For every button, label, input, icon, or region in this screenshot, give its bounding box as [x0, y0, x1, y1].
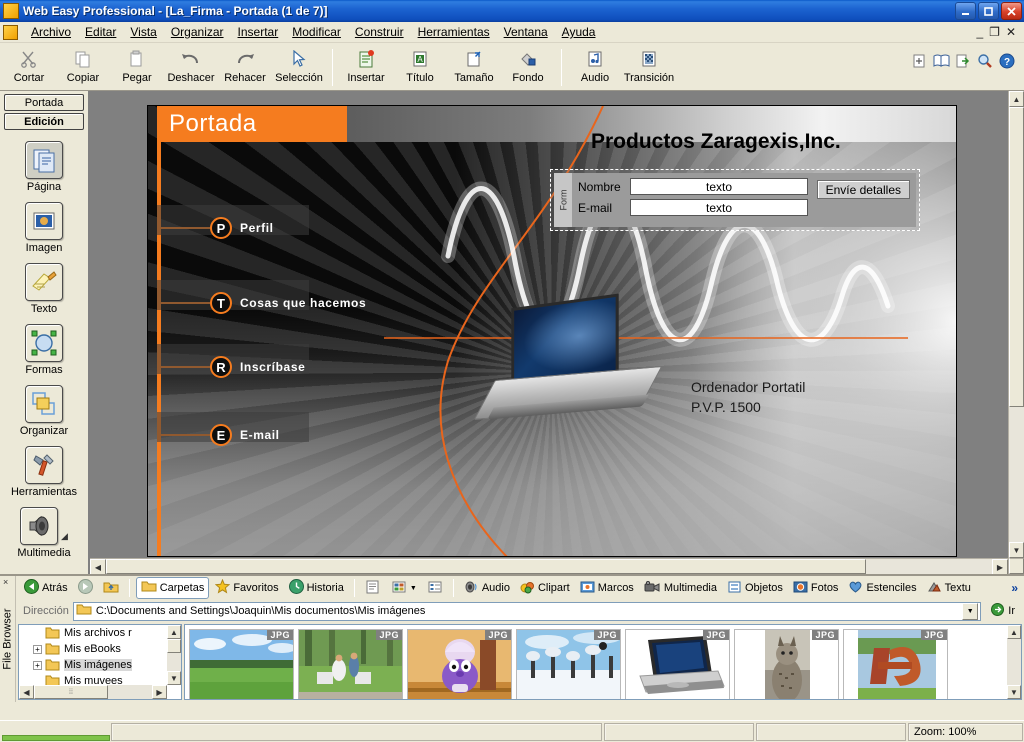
thumbnail-image-lynx — [735, 630, 838, 700]
nav-item-perfil[interactable]: P Perfil — [157, 217, 274, 239]
scroll-corner — [1009, 558, 1024, 574]
sidebar-item-imagen[interactable]: Imagen — [1, 202, 87, 254]
thumbnail-format-tag: JPG — [376, 630, 402, 640]
paste-label: Pegar — [122, 72, 151, 84]
status-bar: Zoom: 100% — [0, 720, 1024, 742]
add-page-icon[interactable] — [910, 52, 928, 70]
document-icon — [3, 25, 18, 40]
product-info: Ordenador Portatil P.V.P. 1500 — [691, 377, 805, 418]
thumbnail-item[interactable]: JPG — [189, 629, 294, 700]
audio-button[interactable]: Audio — [568, 45, 622, 90]
file-browser-side-text: File Browser — [2, 608, 14, 669]
go-label: Ir — [1008, 605, 1015, 617]
thumbnail-format-tag: JPG — [594, 630, 620, 640]
preview-magnifier-icon[interactable] — [976, 52, 994, 70]
nav-chip — [157, 205, 309, 235]
tree-expander[interactable]: + — [33, 661, 42, 670]
frames-icon — [580, 580, 595, 597]
nav-bullet-e: E — [210, 424, 232, 446]
title-icon: A — [411, 48, 429, 70]
sidebar-item-herramientas[interactable]: Herramientas — [1, 446, 87, 498]
objects-icon — [727, 580, 742, 597]
mdi-close-button[interactable]: ✕ — [1006, 26, 1016, 38]
page-header-band: Portada — [157, 106, 347, 142]
mdi-minimize-button[interactable]: _ — [976, 26, 983, 38]
audio-icon — [586, 48, 604, 70]
details-button[interactable] — [423, 578, 447, 599]
gallery-audio-label: Audio — [482, 582, 510, 594]
mdi-window-controls: _ ❐ ✕ — [976, 26, 1024, 38]
page-header-label: Portada — [169, 110, 257, 138]
file-browser-toolbar: Atrás Carpetas — [16, 576, 1024, 600]
maximize-button[interactable] — [978, 2, 999, 20]
minimize-button[interactable] — [955, 2, 976, 20]
submit-button-label: Envíe detalles — [826, 183, 901, 197]
nav-item-email[interactable]: E E-mail — [157, 424, 280, 446]
thumbnail-format-tag: JPG — [812, 630, 838, 640]
textures-icon — [927, 580, 942, 597]
undo-button[interactable]: Deshacer — [164, 45, 218, 90]
nav-chip — [157, 412, 309, 442]
address-label: Dirección — [19, 605, 69, 617]
multimedia-icon — [644, 581, 661, 596]
gallery-clipart-button[interactable]: Clipart — [516, 578, 574, 599]
thumbs-vertical-track[interactable] — [1007, 639, 1021, 685]
thumbnail-image-sculpture — [844, 630, 947, 700]
thumbnail-image-snow-trees — [517, 630, 620, 700]
horizontal-scroll-track[interactable] — [866, 559, 992, 574]
thumbnail-format-tag: JPG — [485, 630, 511, 640]
selection-button[interactable]: Selección — [272, 45, 326, 90]
insert-button[interactable]: Insertar — [339, 45, 393, 90]
history-button[interactable]: Historia — [285, 577, 348, 599]
form-label-email: E-mail — [578, 201, 630, 215]
gallery-estenciles-label: Estenciles — [866, 582, 916, 594]
scroll-up-button[interactable]: ▲ — [1009, 91, 1024, 107]
canvas-area[interactable]: Portada Productos Zaragexis,Inc. P Perfi… — [90, 91, 1024, 574]
zoom-indicator[interactable]: Zoom: 100% — [908, 723, 1023, 741]
form-input-nombre[interactable]: texto — [630, 178, 808, 195]
address-value: C:\Documents and Settings\Joaquin\Mis do… — [96, 605, 426, 617]
gallery-marcos-button[interactable]: Marcos — [576, 578, 638, 599]
sidebar-item-multimedia-label: Multimedia — [17, 547, 70, 559]
gallery-estenciles-button[interactable]: Estenciles — [844, 578, 920, 599]
progress-indicator — [2, 735, 110, 741]
photos-icon — [793, 580, 808, 597]
gallery-fotos-button[interactable]: Fotos — [789, 578, 843, 599]
nav-bullet-p: P — [210, 217, 232, 239]
scroll-down-button[interactable]: ▼ — [1009, 542, 1024, 558]
sidebar-item-formas-label: Formas — [25, 364, 62, 376]
sidebar-item-imagen-label: Imagen — [26, 242, 63, 254]
toolbar-separator-fb3 — [453, 579, 454, 597]
nav-item-email-label: E-mail — [240, 428, 280, 442]
menu-bar: Archivo Editar Vista Organizar Insertar … — [0, 22, 1024, 43]
tree-horizontal-thumb[interactable]: ⁞⁞ — [34, 685, 108, 699]
file-browser-body: Mis archivos r + Mis eBooks + Mis imágen… — [16, 622, 1024, 702]
tree-vertical-thumb[interactable] — [167, 639, 181, 653]
scroll-right-button[interactable]: ▶ — [992, 559, 1008, 574]
views-dropdown-icon[interactable]: ▼ — [410, 585, 417, 592]
background-label: Fondo — [512, 72, 543, 84]
tree-item-label: Mis imágenes — [64, 659, 132, 671]
thumbnail-image-meadow — [190, 630, 293, 700]
tree-item-mis-archivos[interactable]: Mis archivos r — [19, 625, 181, 641]
text-pencil-icon — [25, 263, 63, 301]
mdi-restore-button[interactable]: ❐ — [989, 26, 1000, 38]
transition-icon — [640, 48, 658, 70]
toolbar-separator-fb2 — [354, 579, 355, 597]
views-icon — [391, 580, 407, 597]
tree-horizontal-scrollbar[interactable]: ◀ ⁞⁞ ▶ — [19, 685, 167, 699]
background-button[interactable]: Fondo — [501, 45, 555, 90]
cut-button[interactable]: Cortar — [2, 45, 56, 90]
tab-portada-label: Portada — [25, 97, 64, 109]
shapes-icon — [25, 324, 63, 362]
thumbnail-image-park-couple — [299, 630, 402, 700]
gallery-multimedia-label: Multimedia — [664, 582, 717, 594]
horizontal-scroll-thumb[interactable] — [106, 559, 866, 574]
history-icon — [289, 579, 304, 597]
clipart-icon — [520, 580, 535, 597]
thumbnail-format-tag: JPG — [921, 630, 947, 640]
status-message — [111, 723, 602, 741]
zoom-label: Zoom: 100% — [914, 726, 976, 738]
size-button[interactable]: Tamaño — [447, 45, 501, 90]
thumbnail-item[interactable]: JPG — [298, 629, 403, 700]
status-extra-1 — [604, 723, 754, 741]
folder-icon — [45, 659, 60, 671]
nav-letter: R — [216, 360, 225, 375]
sidebar-item-texto-label: Texto — [31, 303, 57, 315]
properties-button[interactable] — [361, 578, 385, 599]
help-icon[interactable]: ? — [998, 52, 1016, 70]
toolbar-separator-2 — [561, 49, 562, 86]
transition-button[interactable]: Transición — [622, 45, 676, 90]
forward-icon — [78, 579, 93, 597]
tree-scroll-up-button[interactable]: ▲ — [167, 625, 181, 639]
application-window: Web Easy Professional - [La_Firma - Port… — [0, 0, 1024, 742]
redo-button[interactable]: Rehacer — [218, 45, 272, 90]
main-area: Portada Edición Página Imagen — [0, 91, 1024, 574]
page-icon — [25, 141, 63, 179]
up-folder-button[interactable] — [99, 578, 123, 599]
menu-construir[interactable]: Construir — [348, 23, 411, 41]
thumbnail-image-smurf — [408, 630, 511, 700]
app-icon — [3, 3, 19, 19]
vertical-scroll-track[interactable] — [1009, 407, 1024, 542]
sidebar-item-organizar[interactable]: Organizar — [1, 385, 87, 437]
menu-ventana[interactable]: Ventana — [497, 23, 555, 41]
details-icon — [427, 580, 443, 597]
tab-edicion[interactable]: Edición — [4, 113, 84, 130]
cut-label: Cortar — [14, 72, 45, 84]
form-label-nombre: Nombre — [578, 180, 630, 194]
copy-icon — [74, 48, 92, 70]
gallery-texturas-label: Textu — [945, 582, 971, 594]
undo-icon — [181, 48, 201, 70]
thumbnail-item[interactable]: JPG — [625, 629, 730, 700]
gallery-clipart-label: Clipart — [538, 582, 570, 594]
menu-vista[interactable]: Vista — [123, 23, 163, 41]
thumbnail-item[interactable]: JPG — [734, 629, 839, 700]
menu-archivo[interactable]: Archivo — [24, 23, 78, 41]
thumbnail-item[interactable]: JPG — [407, 629, 512, 700]
tree-item-label: Mis archivos r — [64, 627, 132, 639]
nav-item-perfil-label: Perfil — [240, 221, 274, 235]
back-button[interactable]: Atrás — [20, 577, 72, 599]
sidebar-item-texto[interactable]: Texto — [1, 263, 87, 315]
left-tool-panel: Portada Edición Página Imagen — [0, 91, 90, 574]
sidebar-item-organizar-label: Organizar — [20, 425, 68, 437]
window-title: Web Easy Professional - [La_Firma - Port… — [23, 4, 955, 18]
address-dropdown-icon[interactable]: ▼ — [962, 603, 978, 620]
form-tab: Form — [554, 173, 572, 227]
tree-scroll-right-button[interactable]: ▶ — [152, 685, 167, 699]
window-controls — [955, 2, 1022, 20]
copy-button[interactable]: Copiar — [56, 45, 110, 90]
address-input[interactable]: C:\Documents and Settings\Joaquin\Mis do… — [73, 602, 981, 621]
size-label: Tamaño — [454, 72, 493, 84]
toolbar-overflow-button[interactable]: » — [1011, 581, 1024, 595]
tree-expander[interactable]: + — [33, 645, 42, 654]
canvas-vertical-scrollbar[interactable]: ▲ ▼ — [1008, 91, 1024, 574]
scissors-icon — [20, 48, 38, 70]
tree-horizontal-track[interactable] — [108, 685, 152, 699]
thumbnail-format-tag: JPG — [703, 630, 729, 640]
scroll-left-button[interactable]: ◀ — [90, 559, 106, 574]
contact-form[interactable]: Form Nombre texto E-mail — [550, 169, 920, 231]
gallery-marcos-label: Marcos — [598, 582, 634, 594]
page-title: Productos Zaragexis,Inc. — [591, 130, 841, 154]
tree-vertical-scrollbar[interactable]: ▲ ▼ — [167, 625, 181, 685]
status-extra-2 — [756, 723, 906, 741]
book-icon[interactable] — [932, 52, 950, 70]
form-input-nombre-value: texto — [706, 180, 732, 194]
tree-scroll-left-button[interactable]: ◀ — [19, 685, 34, 699]
file-browser-close-icon[interactable]: × — [3, 577, 8, 587]
arrange-icon — [25, 385, 63, 423]
folders-button[interactable]: Carpetas — [136, 577, 210, 599]
vertical-scroll-thumb[interactable] — [1009, 107, 1024, 407]
tree-item-mis-imagenes[interactable]: + Mis imágenes — [19, 657, 181, 673]
folder-icon — [45, 627, 60, 639]
size-icon — [465, 48, 483, 70]
menu-modificar[interactable]: Modificar — [285, 23, 348, 41]
product-name: Ordenador Portatil — [691, 377, 805, 397]
menu-ayuda[interactable]: Ayuda — [555, 23, 603, 41]
tree-item-label: Mis eBooks — [64, 643, 121, 655]
history-label: Historia — [307, 582, 344, 594]
title-bar: Web Easy Professional - [La_Firma - Port… — [0, 0, 1024, 22]
stencils-icon — [848, 580, 863, 597]
nav-bullet-r: R — [210, 356, 232, 378]
transition-label: Transición — [624, 72, 674, 84]
sidebar-item-pagina[interactable]: Página — [1, 141, 87, 193]
nav-letter: E — [217, 428, 226, 443]
back-icon — [24, 579, 39, 597]
form-input-email[interactable]: texto — [630, 199, 808, 216]
favorites-label: Favoritos — [233, 582, 278, 594]
thumbs-scroll-up-button[interactable]: ▲ — [1007, 625, 1021, 639]
tab-portada[interactable]: Portada — [4, 94, 84, 111]
insert-label: Insertar — [347, 72, 384, 84]
title-label: Título — [406, 72, 434, 84]
menu-herramientas[interactable]: Herramientas — [411, 23, 497, 41]
background-icon — [519, 48, 537, 70]
insert-page-icon — [357, 48, 375, 70]
gallery-objetos-label: Objetos — [745, 582, 783, 594]
go-button[interactable]: Ir — [985, 603, 1021, 619]
gallery-objetos-button[interactable]: Objetos — [723, 578, 787, 599]
gallery-multimedia-button[interactable]: Multimedia — [640, 579, 721, 598]
tree-vertical-track[interactable] — [167, 653, 181, 671]
svg-text:A: A — [417, 55, 423, 64]
thumbnails-vertical-scrollbar[interactable]: ▲ ▼ — [1007, 625, 1021, 699]
svg-text:?: ? — [1004, 57, 1010, 68]
sidebar-item-herramientas-label: Herramientas — [11, 486, 77, 498]
nav-item-inscribase-label: Inscríbase — [240, 360, 305, 374]
views-button[interactable]: ▼ — [387, 578, 421, 599]
folders-label: Carpetas — [160, 582, 205, 594]
sidebar-item-formas[interactable]: Formas — [1, 324, 87, 376]
gallery-texturas-button[interactable]: Textu — [923, 578, 975, 599]
nav-letter: T — [217, 296, 225, 311]
selection-label: Selección — [275, 72, 323, 84]
page-preview[interactable]: Portada Productos Zaragexis,Inc. P Perfi… — [147, 105, 957, 557]
go-arrow-icon — [991, 603, 1005, 619]
address-bar: Dirección C:\Documents and Settings\Joaq… — [16, 600, 1024, 622]
toolbar-separator-1 — [332, 49, 333, 86]
submit-button[interactable]: Envíe detalles — [817, 180, 910, 199]
back-label: Atrás — [42, 582, 68, 594]
speaker-icon — [20, 507, 58, 545]
thumbnail-image-laptop — [626, 630, 729, 700]
audio-label: Audio — [581, 72, 609, 84]
undo-label: Deshacer — [167, 72, 214, 84]
copy-label: Copiar — [67, 72, 99, 84]
form-row-email: E-mail texto — [578, 199, 910, 216]
nav-item-cosas[interactable]: T Cosas que hacemos — [157, 292, 366, 314]
thumbnail-item[interactable]: JPG — [516, 629, 621, 700]
export-icon[interactable] — [954, 52, 972, 70]
file-browser-side-label: File Browser — [0, 576, 16, 702]
redo-icon — [235, 48, 255, 70]
thumbnail-item[interactable]: JPG — [843, 629, 948, 700]
multimedia-expander-icon[interactable]: ◢ — [61, 531, 68, 542]
menu-organizar[interactable]: Organizar — [164, 23, 231, 41]
tree-item-mis-ebooks[interactable]: + Mis eBooks — [19, 641, 181, 657]
toolbar-right-icons: ? — [902, 45, 1024, 90]
image-icon — [25, 202, 63, 240]
gallery-fotos-label: Fotos — [811, 582, 839, 594]
folder-icon — [45, 643, 60, 655]
tools-hammer-icon — [25, 446, 63, 484]
tree-expander[interactable] — [33, 629, 42, 638]
menu-insertar[interactable]: Insertar — [231, 23, 286, 41]
tree-scroll-down-button[interactable]: ▼ — [167, 671, 181, 685]
toolbar-separator-fb1 — [129, 579, 130, 597]
file-browser-panel: File Browser × Atrás — [0, 574, 1024, 702]
thumbnail-list[interactable]: JPG — [184, 624, 1022, 700]
up-folder-icon — [103, 580, 119, 597]
folder-icon — [76, 603, 92, 619]
main-toolbar: Cortar Copiar Pegar Deshacer Rehacer — [0, 43, 1024, 91]
tab-edicion-label: Edición — [24, 116, 64, 128]
nav-item-inscribase[interactable]: R Inscríbase — [157, 356, 305, 378]
star-icon — [215, 579, 230, 597]
sidebar-item-pagina-label: Página — [27, 181, 61, 193]
favorites-button[interactable]: Favoritos — [211, 577, 282, 599]
paste-button[interactable]: Pegar — [110, 45, 164, 90]
product-price: P.V.P. 1500 — [691, 397, 805, 417]
cursor-icon — [291, 48, 307, 70]
gallery-audio-button[interactable]: Audio — [460, 578, 514, 599]
folder-tree[interactable]: Mis archivos r + Mis eBooks + Mis imágen… — [18, 624, 182, 700]
forward-button[interactable] — [74, 577, 97, 599]
thumbs-scroll-down-button[interactable]: ▼ — [1007, 685, 1021, 699]
close-button[interactable] — [1001, 2, 1022, 20]
title-button[interactable]: A Título — [393, 45, 447, 90]
form-input-email-value: texto — [706, 201, 732, 215]
nav-item-cosas-label: Cosas que hacemos — [240, 296, 366, 310]
laptop-image — [488, 301, 648, 431]
nav-letter: P — [217, 221, 226, 236]
audio-icon — [464, 580, 479, 597]
sidebar-item-multimedia[interactable]: ◢ Multimedia — [1, 507, 87, 559]
redo-label: Rehacer — [224, 72, 266, 84]
form-tab-label: Form — [558, 190, 568, 211]
canvas-horizontal-scrollbar[interactable]: ◀ ▶ — [90, 558, 1008, 574]
paste-icon — [128, 48, 146, 70]
menu-editar[interactable]: Editar — [78, 23, 123, 41]
thumbnail-format-tag: JPG — [267, 630, 293, 640]
nav-bullet-t: T — [210, 292, 232, 314]
folders-icon — [141, 580, 157, 596]
properties-icon — [365, 580, 381, 597]
